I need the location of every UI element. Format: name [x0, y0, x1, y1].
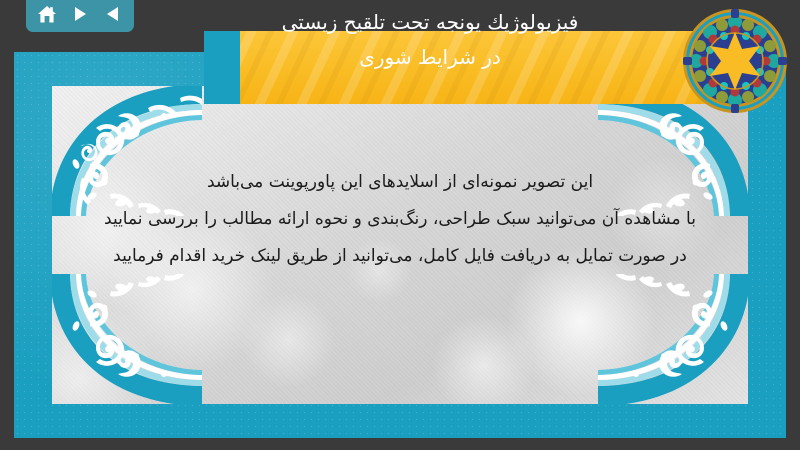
body-line-2: با مشاهده آن می‌توانید سبک طراحی، رنگ‌بن…	[52, 201, 748, 238]
navigation-bar[interactable]	[26, 0, 134, 32]
body-line-3: در صورت تمایل به دریافت فایل کامل، می‌تو…	[52, 238, 748, 275]
home-icon	[37, 5, 57, 24]
islamic-medallion-ornament	[682, 8, 788, 114]
previous-slide-button[interactable]	[100, 2, 126, 26]
slide-body-text: این تصویر نمونه‌ای از اسلایدهای این پاور…	[52, 164, 748, 275]
triangle-right-icon	[71, 5, 89, 23]
title-banner	[205, 31, 725, 104]
filigree-corner-ornament-bottom-left	[52, 274, 202, 404]
filigree-corner-ornament-bottom-right	[598, 274, 748, 404]
body-line-1: این تصویر نمونه‌ای از اسلایدهای این پاور…	[52, 164, 748, 201]
slide-frame: این تصویر نمونه‌ای از اسلایدهای این پاور…	[14, 52, 786, 438]
triangle-left-icon	[104, 5, 122, 23]
home-button[interactable]	[34, 2, 60, 26]
slide-content-area: این تصویر نمونه‌ای از اسلایدهای این پاور…	[52, 86, 748, 404]
slide-viewer: این تصویر نمونه‌ای از اسلایدهای این پاور…	[0, 0, 800, 450]
next-slide-button[interactable]	[67, 2, 93, 26]
